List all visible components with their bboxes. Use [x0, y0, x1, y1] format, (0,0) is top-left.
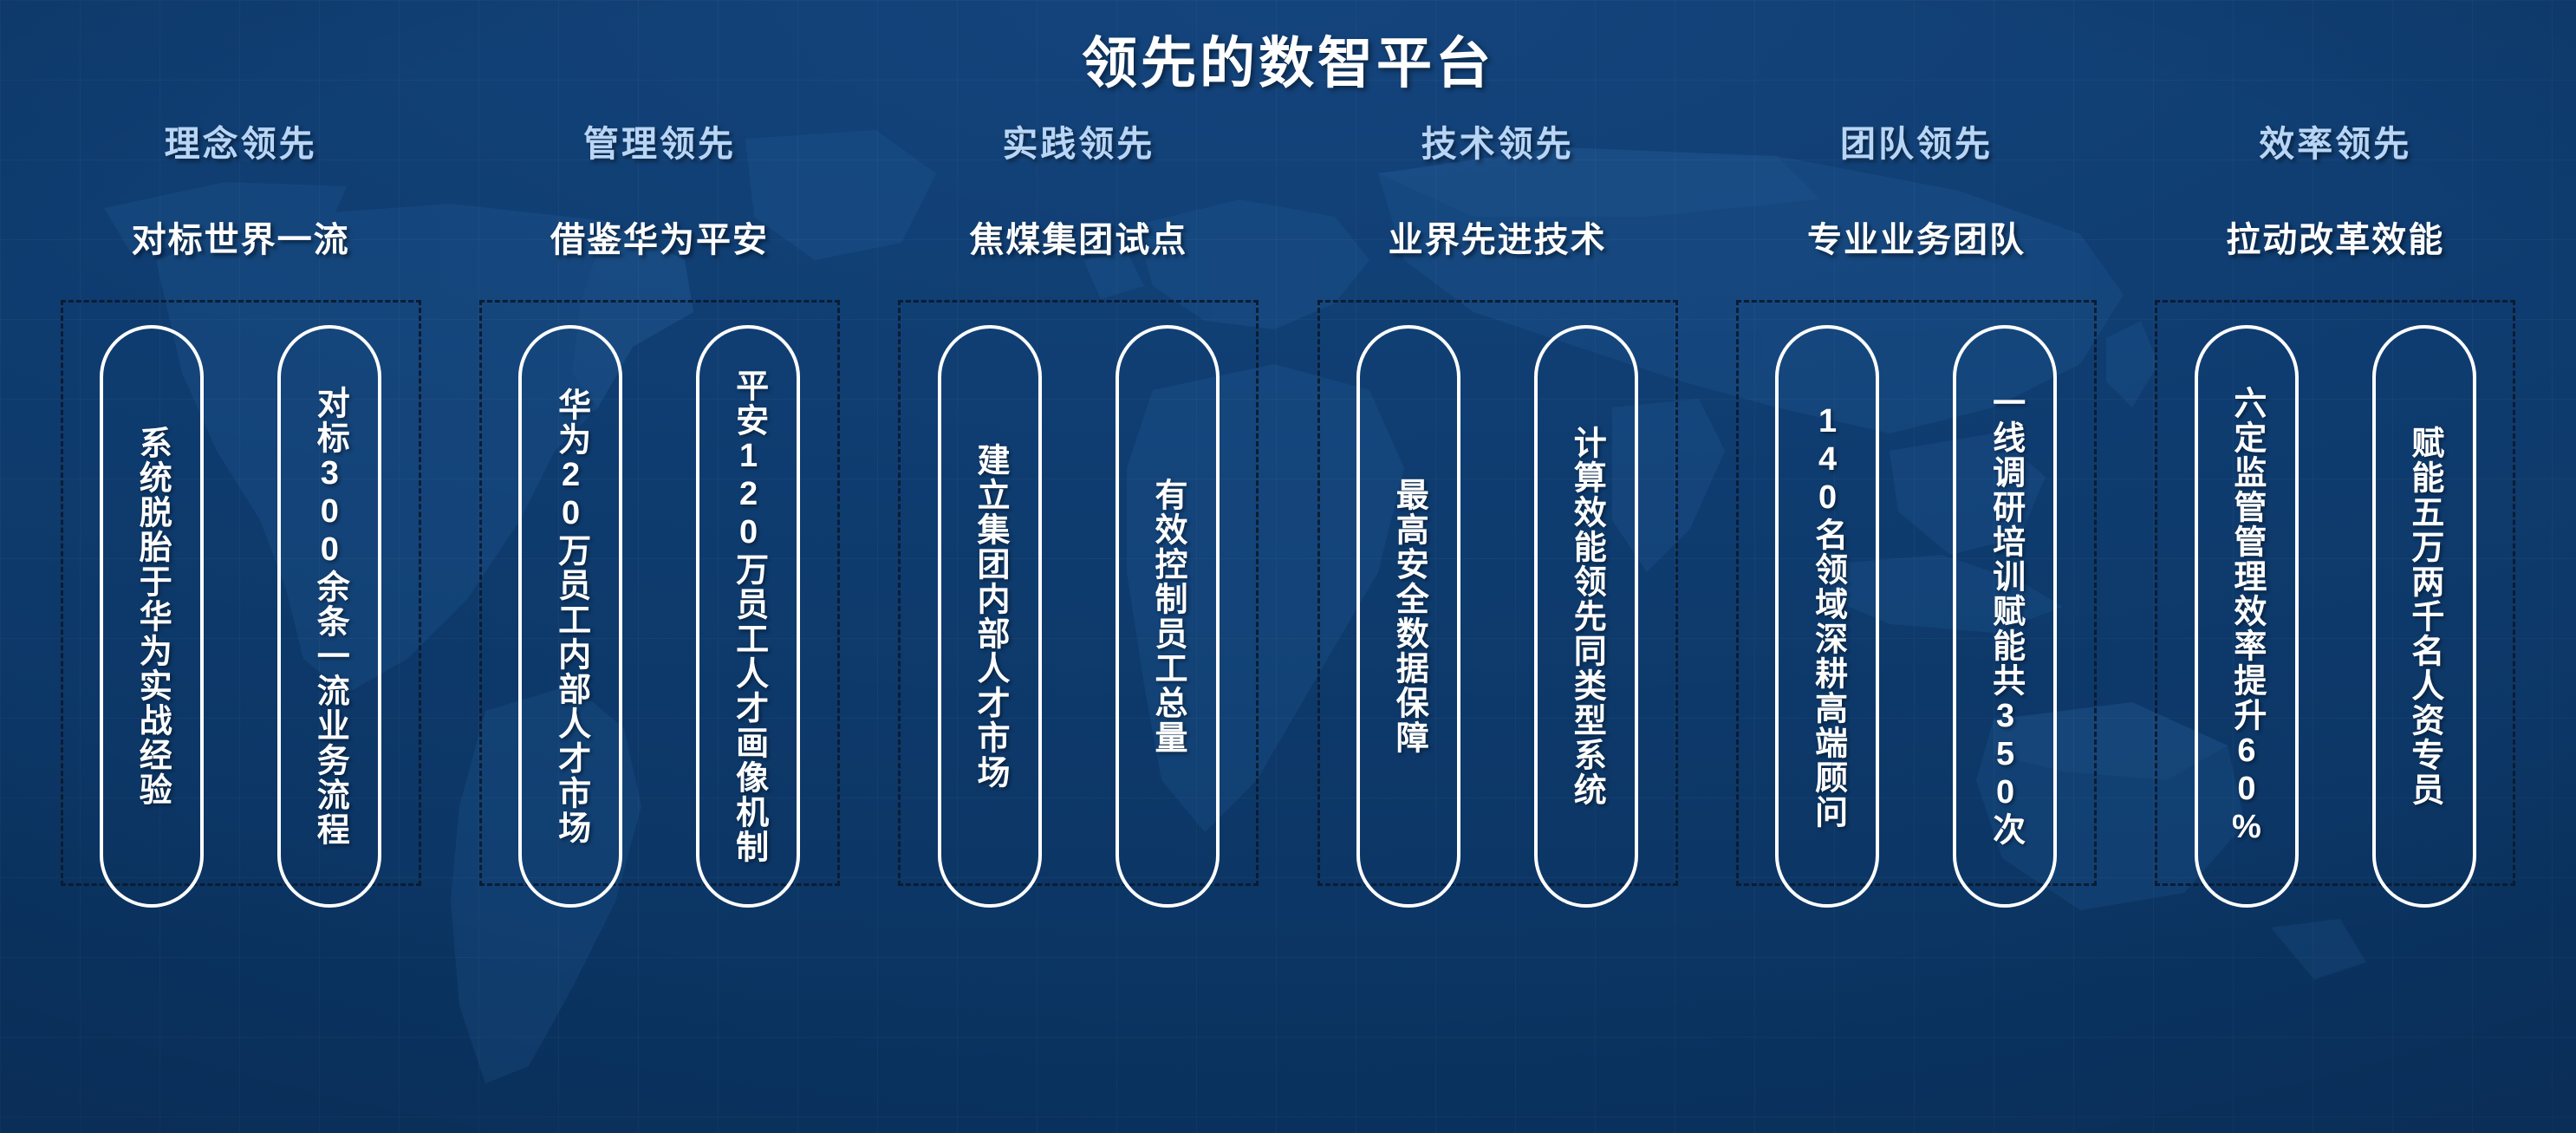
pillar-kicker-6: 效率领先 — [2259, 114, 2411, 166]
pill-label: 对标300余条一流业务流程 — [312, 379, 347, 854]
pill-label: 140名领域深耕高端顾问 — [1810, 396, 1844, 837]
pillar-title-1: 对标世界一流 — [132, 212, 350, 262]
pillar-title-3: 焦煤集团试点 — [969, 212, 1187, 262]
pillar-columns: 理念领先 对标世界一流 系统脱胎于华为实战经验 对标300余条一流业务流程 管理… — [31, 102, 2545, 1125]
pillar-title-2: 借鉴华为平安 — [550, 212, 769, 262]
pill-label: 平安120万员工人才画像机制 — [731, 361, 765, 871]
pill-label: 有效控制员工总量 — [1150, 471, 1185, 762]
pillar-group-6: 六定监管管理效率提升60% 赋能五万两千名人资专员 — [2155, 300, 2515, 886]
pillar-group-5: 140名领域深耕高端顾问 一线调研培训赋能共350次 — [1736, 300, 2097, 886]
pillar-column-4: 技术领先 业界先进技术 最高安全数据保障 计算效能领先同类型系统 — [1288, 102, 1707, 1125]
pill-label: 系统脱胎于华为实战经验 — [134, 419, 169, 814]
pill-2-1[interactable]: 华为20万员工内部人才市场 — [518, 325, 622, 908]
pillar-group-4: 最高安全数据保障 计算效能领先同类型系统 — [1317, 300, 1678, 886]
pill-4-1[interactable]: 最高安全数据保障 — [1356, 325, 1460, 908]
pillar-kicker-2: 管理领先 — [583, 114, 736, 166]
pillar-column-6: 效率领先 拉动改革效能 六定监管管理效率提升60% 赋能五万两千名人资专员 — [2126, 102, 2545, 1125]
pillar-group-3: 建立集团内部人才市场 有效控制员工总量 — [898, 300, 1259, 886]
pill-3-1[interactable]: 建立集团内部人才市场 — [938, 325, 1042, 908]
pill-label: 一线调研培训赋能共350次 — [1987, 379, 2022, 854]
pillar-group-1: 系统脱胎于华为实战经验 对标300余条一流业务流程 — [61, 300, 421, 886]
pillar-title-6: 拉动改革效能 — [2226, 212, 2444, 262]
pillar-title-5: 专业业务团队 — [1807, 212, 2026, 262]
pill-label: 六定监管管理效率提升60% — [2229, 379, 2264, 854]
pill-6-1[interactable]: 六定监管管理效率提升60% — [2195, 325, 2299, 908]
pillar-column-2: 管理领先 借鉴华为平安 华为20万员工内部人才市场 平安120万员工人才画像机制 — [450, 102, 868, 1125]
pill-6-2[interactable]: 赋能五万两千名人资专员 — [2372, 325, 2476, 908]
pillar-column-1: 理念领先 对标世界一流 系统脱胎于华为实战经验 对标300余条一流业务流程 — [31, 102, 450, 1125]
pill-2-2[interactable]: 平安120万员工人才画像机制 — [696, 325, 800, 908]
pill-4-2[interactable]: 计算效能领先同类型系统 — [1534, 325, 1638, 908]
pill-5-2[interactable]: 一线调研培训赋能共350次 — [1953, 325, 2057, 908]
pill-label: 建立集团内部人才市场 — [973, 436, 1007, 797]
pillar-title-4: 业界先进技术 — [1389, 212, 1607, 262]
pill-label: 最高安全数据保障 — [1391, 471, 1426, 762]
pillar-kicker-1: 理念领先 — [165, 114, 317, 166]
pillar-kicker-4: 技术领先 — [1421, 114, 1574, 166]
pillar-kicker-5: 团队领先 — [1840, 114, 1993, 166]
pill-5-1[interactable]: 140名领域深耕高端顾问 — [1775, 325, 1879, 908]
pill-label: 华为20万员工内部人才市场 — [553, 381, 588, 852]
pill-3-2[interactable]: 有效控制员工总量 — [1116, 325, 1220, 908]
pillar-column-5: 团队领先 专业业务团队 140名领域深耕高端顾问 一线调研培训赋能共350次 — [1707, 102, 2125, 1125]
pillar-kicker-3: 实践领先 — [1002, 114, 1155, 166]
pill-label: 计算效能领先同类型系统 — [1569, 419, 1603, 814]
pill-1-1[interactable]: 系统脱胎于华为实战经验 — [100, 325, 204, 908]
slide-canvas: 领先的数智平台 理念领先 对标世界一流 系统脱胎于华为实战经验 对标300余条一… — [0, 0, 2576, 1133]
pill-1-2[interactable]: 对标300余条一流业务流程 — [277, 325, 381, 908]
pillar-group-2: 华为20万员工内部人才市场 平安120万员工人才画像机制 — [479, 300, 840, 886]
pill-label: 赋能五万两千名人资专员 — [2407, 419, 2442, 814]
pillar-column-3: 实践领先 焦煤集团试点 建立集团内部人才市场 有效控制员工总量 — [869, 102, 1288, 1125]
page-title: 领先的数智平台 — [0, 19, 2576, 99]
